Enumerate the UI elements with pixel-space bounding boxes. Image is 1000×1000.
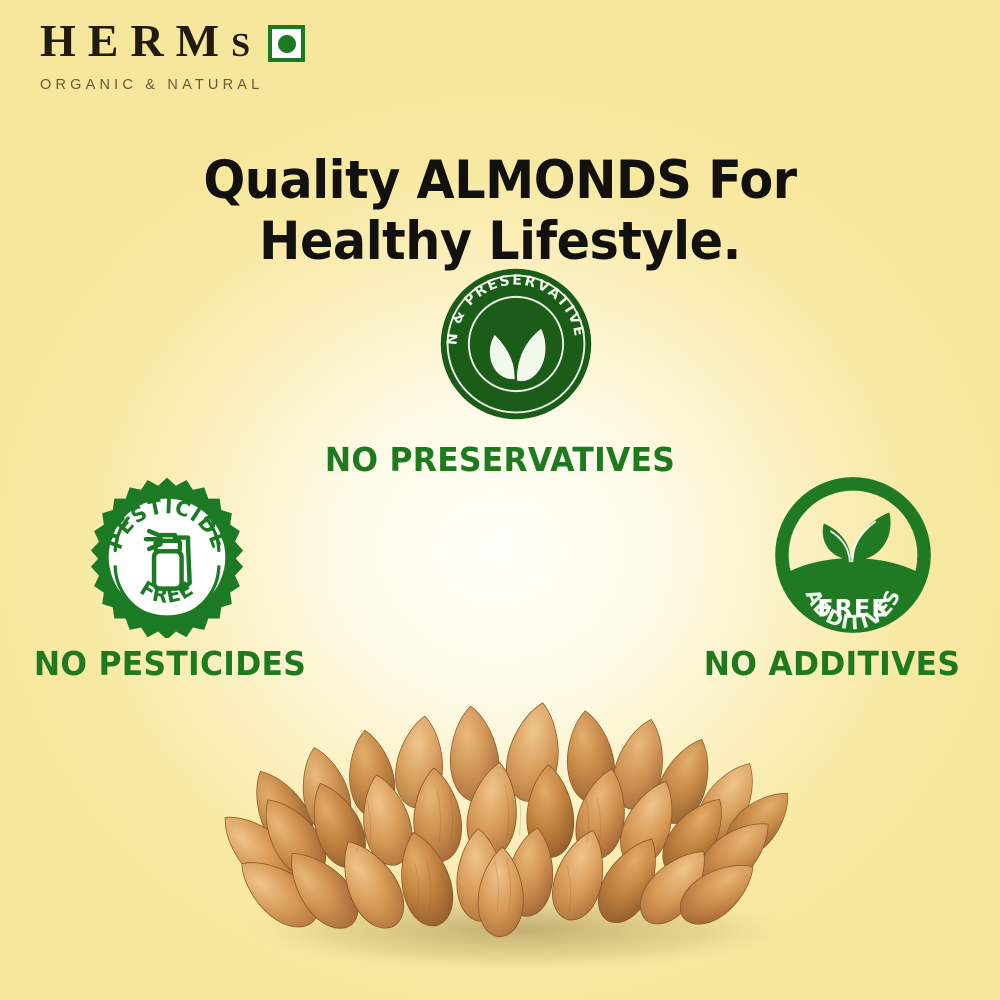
brand-wordmark-main: HERM [40,15,231,66]
vegetarian-mark-dot [278,35,296,53]
promo-canvas: HERMS ORGANIC & NATURAL Quality ALMONDS … [0,0,1000,1000]
brand-logo: HERMS ORGANIC & NATURAL [40,18,263,93]
badge-preservatives: CLEAN & PRESERVATIVE FREE [440,268,592,420]
brand-tagline: ORGANIC & NATURAL [40,77,263,93]
badge-label-additives: NO ADDITIVES [680,644,984,683]
almond-pile-photo [205,694,825,970]
sprout-leaves-icon [823,512,891,561]
seal-bottom-text-additives: FREE [817,595,889,623]
badge-label-pesticides: NO PESTICIDES [18,644,322,683]
badge-label-preservatives: NO PRESERVATIVES [25,440,975,479]
brand-wordmark-s: S [231,27,250,64]
page-title: Quality ALMONDS For Healthy Lifestyle. [35,150,965,273]
badge-additives: ADDITIVES FREE [774,476,932,634]
vegetarian-mark-icon [268,25,305,62]
headline-line-2: Healthy Lifestyle. [35,211,965,272]
brand-wordmark: HERMS [40,18,263,64]
badge-pesticides: PESTICIDE FREE [86,476,248,638]
headline-line-1: Quality ALMONDS For [35,150,965,211]
